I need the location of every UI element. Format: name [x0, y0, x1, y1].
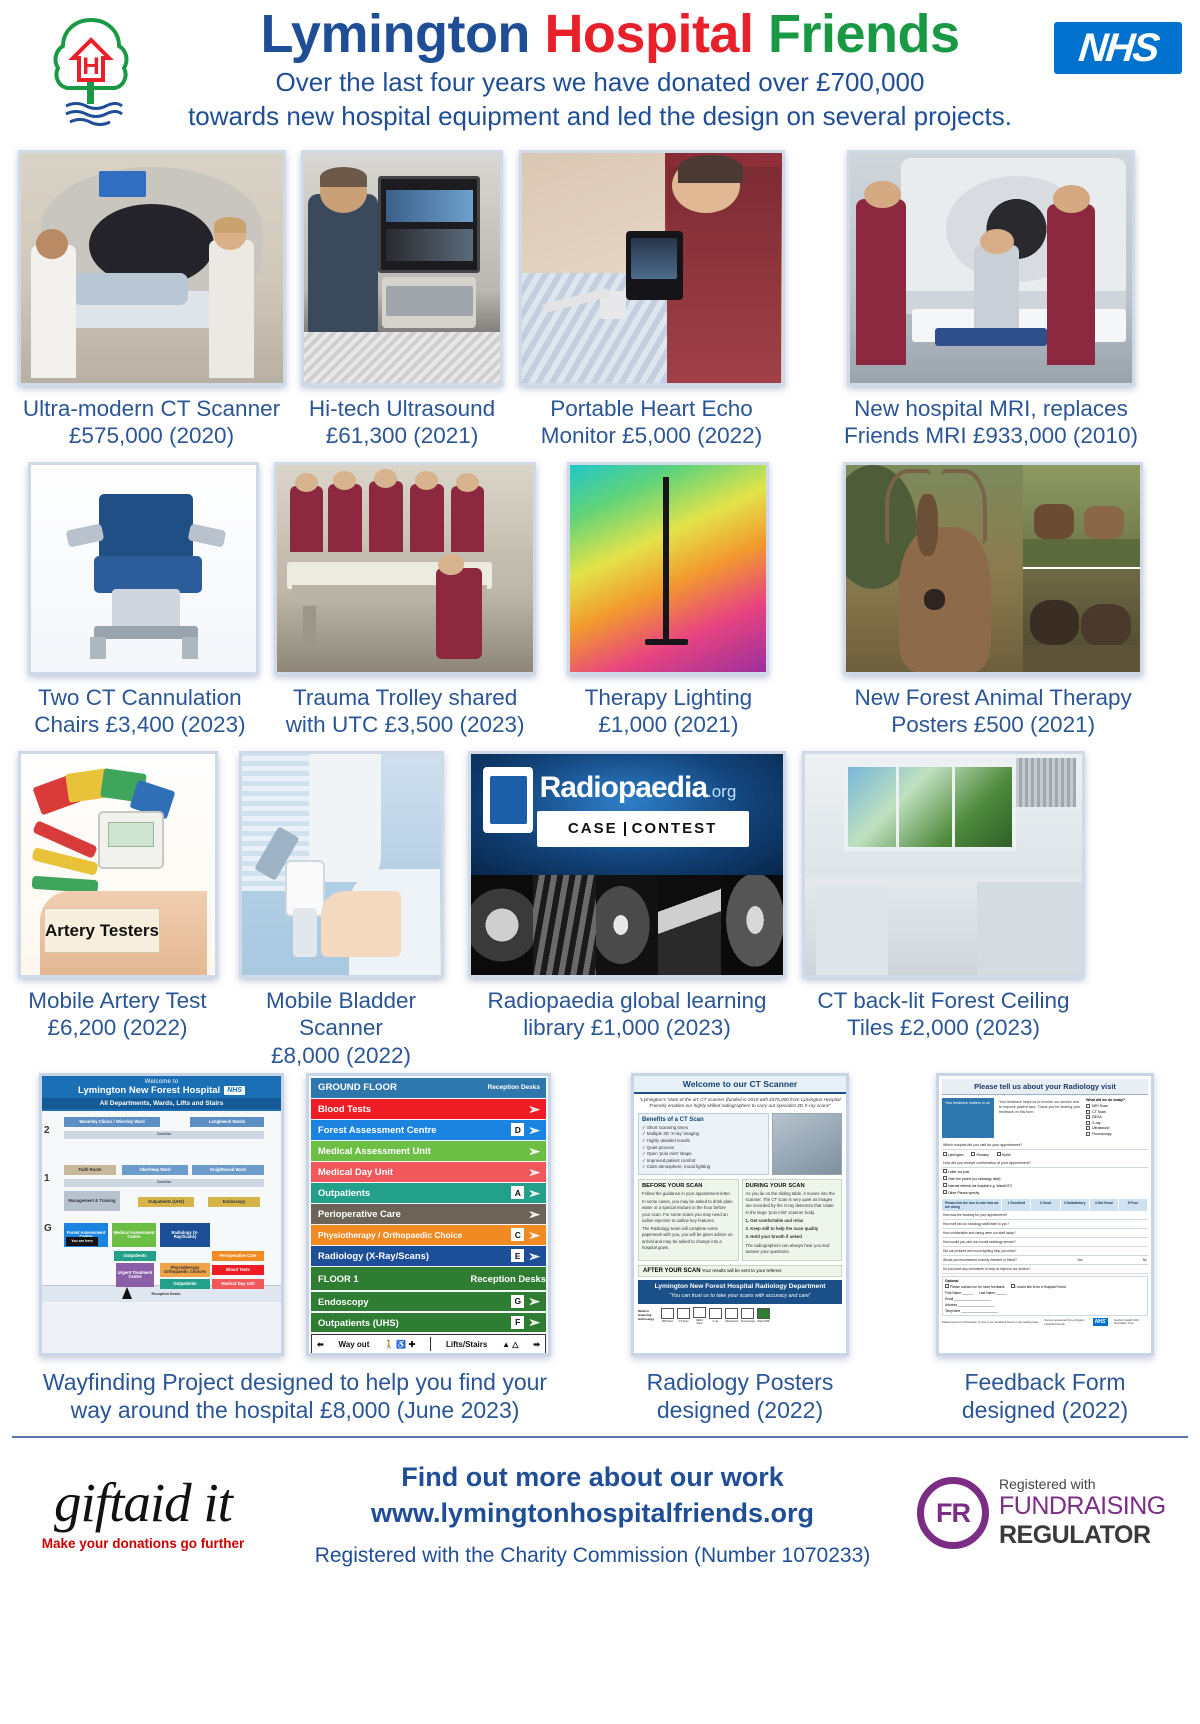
rp-benefit-item: ✓ Improved patient comfort [642, 1158, 765, 1165]
fb-optional-block: Optional Please contact me for more feed… [942, 1276, 1148, 1316]
sign-row-medical-assessment-unit: Medical Assessment Unit ➢ [311, 1141, 546, 1161]
fb-blue-box: Your feedback matters to us [942, 1098, 994, 1138]
fb-rating-col: 1 Excellent [1002, 1199, 1031, 1211]
sign-row-label: Perioperative Care [318, 1208, 528, 1219]
right-arrow-icon: ➢ [528, 1186, 540, 1200]
fb-footer-note: Please hand in to Reception or post in o… [942, 1320, 1038, 1324]
fb-comments-row[interactable]: Do you have any comments to help us impr… [942, 1265, 1148, 1274]
fr-line-1: Registered with [999, 1476, 1166, 1492]
caption-line-1: Mobile Artery Test [14, 987, 221, 1014]
map-block-urgent-treatment: Urgent Treatment Centre [116, 1263, 154, 1287]
equipment-row-2: Two CT Cannulation Chairs £3,400 (2023) [0, 462, 1200, 739]
map-block-management: Management & Training [64, 1191, 120, 1211]
fb-field-first-name[interactable]: First Name ______ [945, 1291, 973, 1295]
fb-rating-row[interactable]: How well did our radiology staff listen … [942, 1220, 1148, 1229]
rp-benefits-area: Benefits of a CT Scan ✓ Short scanning t… [634, 1113, 846, 1175]
grid-item-mobile-artery-test: Artery Testers Mobile Artery Test £6,200… [10, 751, 225, 1042]
lymington-hospital-friends-tree-logo: H [36, 16, 146, 128]
caption-radiopaedia: Radiopaedia global learning library £1,0… [457, 987, 797, 1042]
caption-ct-scanner: Ultra-modern CT Scanner £575,000 (2020) [10, 395, 293, 450]
rp-during-title: DURING YOUR SCAN [746, 1183, 839, 1189]
poster-subtitle: Over the last four years we have donated… [0, 65, 1200, 134]
sign-row-label: Radiology (X-Ray/Scans) [318, 1250, 511, 1261]
fb-what-options: What did we do today? MRI Scan CT Scan D… [1086, 1098, 1148, 1138]
photo-ponies [1023, 465, 1141, 568]
sign-row-perioperative-care: Perioperative Care ➢ [311, 1204, 546, 1224]
caption-line-1: Feedback Form [904, 1368, 1186, 1396]
radiopaedia-case-label: CASE [568, 820, 618, 837]
caption-cannulation-chairs: Two CT Cannulation Chairs £3,400 (2023) [10, 684, 270, 739]
grid-item-ultrasound: Hi-tech Ultrasound £61,300 (2021) [293, 150, 511, 450]
checkbox[interactable] [1086, 1121, 1090, 1125]
sign-badge: F [511, 1316, 524, 1329]
checkbox[interactable] [1086, 1104, 1090, 1108]
sign-floor1-label: FLOOR 1 [318, 1273, 470, 1284]
caption-mobile-artery-test: Mobile Artery Test £6,200 (2022) [10, 987, 225, 1042]
sign-row-label: Blood Tests [318, 1103, 528, 1114]
right-arrow-icon: ➢ [528, 1228, 540, 1242]
caption-line-1: Radiology Posters [584, 1368, 896, 1396]
right-arrow-icon: ➢ [528, 1207, 540, 1221]
fb-q-location: Which hospital did you visit for your ap… [942, 1141, 1148, 1150]
rp-benefits-box: Benefits of a CT Scan ✓ Short scanning t… [638, 1113, 769, 1175]
photo-ct-scanner [18, 150, 286, 386]
sign-row-label: Medical Day Unit [318, 1166, 528, 1177]
caption-line-2: designed (2022) [904, 1396, 1186, 1424]
fb-rating-col: 2 Good [1031, 1199, 1060, 1211]
right-arrow-icon: ➢ [528, 1249, 540, 1263]
title-friends: Friends [768, 4, 960, 64]
sign-floor1-reception: Reception Desks [470, 1273, 546, 1284]
caption-line-1: Therapy Lighting [544, 684, 792, 711]
sign-header-label: GROUND FLOOR [318, 1082, 488, 1093]
rp-icon-mri: MRI Scan [661, 1308, 674, 1323]
map-you-are-here: You are here [66, 1237, 98, 1246]
right-arrow-icon: ➢ [528, 1102, 540, 1116]
caption-line-1: New Forest Animal Therapy [800, 684, 1186, 711]
map-nhs-logo: NHS [224, 1086, 245, 1095]
rp-band-line-1: Lymington New Forest Hospital Radiology … [640, 1283, 840, 1292]
fb-confirm-opt[interactable]: Other Please specify [942, 1189, 1148, 1196]
fb-recommend-row[interactable]: Would you recommend a family member or f… [942, 1256, 1148, 1265]
photo-hospital-mri [847, 150, 1135, 386]
rp-icon-ct: CT Scan [677, 1308, 690, 1323]
grid-item-hospital-mri: New hospital MRI, replaces Friends MRI £… [792, 150, 1190, 450]
caption-line-1: CT back-lit Forest Ceiling [801, 987, 1086, 1014]
left-arrow-icon: ⬅ [317, 1340, 324, 1349]
sign-row-label: Outpatients (UHS) [318, 1317, 511, 1328]
map-block-longbeech: Longbeech Wards [190, 1117, 264, 1127]
fb-field-address[interactable]: Address ____________________ [945, 1303, 1145, 1307]
rp-benefit-item: ✓ Open ‘polo mint’ shape [642, 1151, 765, 1158]
rp-after-text: Your results will be sent to your referr… [702, 1268, 783, 1273]
grid-item-heart-echo: Portable Heart Echo Monitor £5,000 (2022… [511, 150, 792, 450]
sign-row-endoscopy: Endoscopy G ➢ [311, 1292, 546, 1312]
subtitle-line-1: Over the last four years we have donated… [70, 65, 1130, 99]
poster-title: Lymington Hospital Friends [0, 6, 1200, 63]
map-block-endoscopy: Endoscopy [208, 1197, 260, 1207]
photo-pigs [1023, 567, 1141, 672]
sign-badge: E [511, 1249, 524, 1262]
equipment-row-1: Ultra-modern CT Scanner £575,000 (2020) [0, 150, 1200, 450]
caption-line-1: Ultra-modern CT Scanner [14, 395, 289, 422]
fr-line-2: FUNDRAISING [999, 1492, 1166, 1521]
map-corridor-2: Corridor [64, 1131, 264, 1139]
grid-item-trauma-trolley: Trauma Trolley shared with UTC £3,500 (2… [270, 462, 541, 739]
map-block-medical-day-unit: Medical Day Unit [212, 1279, 264, 1289]
checkbox[interactable] [1086, 1110, 1090, 1114]
fb-no[interactable]: No [1143, 1258, 1147, 1262]
rp-before-during: BEFORE YOUR SCAN Follow the guidance in … [634, 1175, 846, 1265]
fb-field-email[interactable]: Email ____________________ [945, 1297, 1145, 1301]
fb-loc-opt[interactable]: Romsey [971, 1152, 988, 1157]
rp-benefit-item: ✓ Quiet process [642, 1145, 765, 1152]
caption-line-2: £6,200 (2022) [14, 1014, 221, 1041]
fb-rating-row[interactable]: How comfortable and caring were our staf… [942, 1229, 1148, 1238]
fb-nhs-logo: NHS [1093, 1318, 1108, 1326]
radiopaedia-wordmark: Radiopaedia [540, 771, 707, 805]
right-arrow-icon: ➢ [528, 1294, 540, 1308]
caption-line-2: with UTC £3,500 (2023) [274, 711, 537, 738]
map-block-oberheap: Oberheap Ward [122, 1165, 188, 1175]
caption-line-2: £575,000 (2020) [14, 422, 289, 449]
rp-benefits-title: Benefits of a CT Scan [642, 1117, 765, 1123]
right-arrow-icon: ➡ [533, 1340, 540, 1349]
map-block-radiology: Radiology (X-Ray/Scans) [160, 1223, 210, 1247]
map-block-faith-room: Faith Room [64, 1165, 116, 1175]
rp-icon-strip: Modern Scanning technology MRI Scan CT S… [634, 1304, 846, 1328]
sign-header-ground-floor: GROUND FLOOR Reception Desks [311, 1078, 546, 1098]
fb-loc-opt[interactable]: Hythe [997, 1152, 1011, 1157]
rp-after-title: AFTER YOUR SCAN [643, 1268, 701, 1274]
rp-before-p3: The Radiology team will complete some pa… [642, 1226, 735, 1251]
map-level-2: 2 [44, 1125, 50, 1136]
caption-line-2: Posters £500 (2021) [800, 711, 1186, 738]
grid-item-mobile-bladder-scanner: Mobile Bladder Scanner £8,000 (2022) [225, 751, 457, 1069]
sign-header-reception: Reception Desks [488, 1084, 540, 1091]
photo-animal-stack [1023, 465, 1141, 672]
caption-wayfinding: Wayfinding Project designed to help you … [10, 1368, 580, 1424]
fb-survey-credit: Survey sponsored by Lymington Hospital F… [1044, 1318, 1086, 1326]
photo-trauma-trolley [274, 462, 536, 675]
rp-icon-dexa: DEXA Scan [693, 1307, 706, 1325]
fb-option[interactable]: Fluoroscopy [1086, 1132, 1148, 1136]
photo-animal-posters [843, 462, 1143, 675]
caption-ultrasound: Hi-tech Ultrasound £61,300 (2021) [293, 395, 511, 450]
documents-row: Welcome to Lymington New Forest Hospital… [0, 1073, 1200, 1424]
radiopaedia-tld: .org [707, 782, 736, 802]
fb-q-confirm: How did you receive confirmation of your… [942, 1159, 1148, 1168]
photo-radiopaedia: Radiopaedia .org CASE CONTEST [468, 751, 786, 978]
caption-line-2: designed (2022) [584, 1396, 896, 1424]
sign-row-outpatients: Outpatients A ➢ [311, 1183, 546, 1203]
doc-group-wayfinding: Welcome to Lymington New Forest Hospital… [10, 1073, 580, 1424]
fb-intro: Your feedback helps us to monitor our se… [997, 1098, 1083, 1138]
checkbox[interactable] [1086, 1132, 1090, 1136]
sign-row-label: Endoscopy [318, 1296, 511, 1307]
sign-header-floor-1: FLOOR 1 Reception Desks [311, 1267, 546, 1290]
map-level-1: 1 [44, 1173, 50, 1184]
wayfinding-map-body: 2 1 G Waverley Clinics / Wiverley Ward L… [42, 1111, 281, 1285]
caption-hospital-mri: New hospital MRI, replaces Friends MRI £… [792, 395, 1190, 450]
sign-way-out-label: Way out [339, 1340, 370, 1349]
rp-benefit-item: ✓ Calm atmosphere, mood lighting [642, 1164, 765, 1171]
caption-therapy-lighting: Therapy Lighting £1,000 (2021) [540, 684, 796, 739]
doc-feedback-form: Please tell us about your Radiology visi… [936, 1073, 1154, 1356]
nhs-logo-label: NHS [1076, 26, 1159, 71]
rp-scanner-photo [772, 1113, 842, 1175]
title-lymington: Lymington [260, 4, 529, 64]
fr-line-3: REGULATOR [999, 1521, 1166, 1550]
caption-forest-ceiling-tiles: CT back-lit Forest Ceiling Tiles £2,000 … [797, 987, 1090, 1042]
fb-rating-col: 5 Poor [1119, 1199, 1148, 1211]
rp-icon-ward: Ward XRD [757, 1308, 770, 1323]
photo-cannulation-chair [28, 462, 259, 675]
rp-before-p1: Follow the guidance in your appointment … [642, 1191, 735, 1197]
footer-charity-number: Registered with the Charity Commission (… [268, 1544, 917, 1568]
sign-row-blood-tests: Blood Tests ➢ [311, 1099, 546, 1119]
map-block-perioperative: Perioperative Care [212, 1251, 264, 1261]
caption-feedback-form: Feedback Form designed (2022) [900, 1368, 1190, 1424]
fb-rating-row[interactable]: How was the booking for your appointment… [942, 1211, 1148, 1220]
sign-footer: ⬅ Way out 🚶 ♿ ✚ Lifts/Stairs ▲ △ ➡ [311, 1334, 546, 1354]
caption-line-1: Hi-tech Ultrasound [297, 395, 507, 422]
map-level-G: G [44, 1223, 52, 1234]
fb-field-last-name[interactable]: Last Name ______ [979, 1291, 1007, 1295]
nhs-logo: NHS [1054, 22, 1182, 74]
fb-confirm-opt[interactable]: Internal referral via hospital e.g. Ward… [942, 1182, 1148, 1189]
subtitle-line-2: towards new hospital equipment and led t… [70, 99, 1130, 133]
map-block-physio: Physiotherapy Orthopaedic Choices [160, 1263, 210, 1277]
sign-lifts-stairs-label: Lifts/Stairs [446, 1340, 487, 1349]
map-block-outpatients-2: Outpatients [160, 1279, 210, 1289]
rp-icon-fluoroscopy: Fluoroscopy [741, 1308, 754, 1323]
rp-during-step-1: 1. Get comfortable and relax [746, 1218, 839, 1224]
sign-row-physiotherapy: Physiotherapy / Orthopaedic Choice C ➢ [311, 1225, 546, 1245]
rp-before-title: BEFORE YOUR SCAN [642, 1183, 735, 1189]
sign-badge: A [511, 1186, 524, 1199]
svg-text:H: H [82, 53, 99, 80]
map-block-blood-tests: Blood Tests [212, 1265, 264, 1275]
fb-loc-opt[interactable]: Lymington [943, 1152, 963, 1157]
right-arrow-icon: ➢ [528, 1165, 540, 1179]
map-reception-desks: Reception Desks [138, 1291, 194, 1299]
sign-row-label: Physiotherapy / Orthopaedic Choice [318, 1230, 511, 1240]
rp-after-block: AFTER YOUR SCAN Your results will be sen… [638, 1265, 842, 1277]
sign-row-medical-day-unit: Medical Day Unit ➢ [311, 1162, 546, 1182]
map-block-medical-assessment: Medical Assessment Centre [112, 1223, 156, 1247]
sign-badge: G [511, 1295, 524, 1308]
artery-testers-label: Artery Testers [45, 921, 159, 941]
giftaid-wordmark: giftaid it [18, 1475, 268, 1530]
grid-item-ct-scanner: Ultra-modern CT Scanner £575,000 (2020) [10, 150, 293, 450]
caption-line-1: Two CT Cannulation [14, 684, 266, 711]
caption-line-2: library £1,000 (2023) [461, 1014, 793, 1041]
map-entrance-arrow-icon [122, 1287, 132, 1299]
grid-item-forest-ceiling-tiles: CT back-lit Forest Ceiling Tiles £2,000 … [797, 751, 1090, 1042]
fb-location-options: Lymington Romsey Hythe [942, 1150, 1148, 1159]
map-subtitle: All Departments, Wards, Lifts and Stairs [42, 1098, 281, 1109]
rp-intro: “Lymington’s ‘state of the art’ CT scann… [634, 1094, 846, 1113]
caption-line-2: way around the hospital £8,000 (June 202… [14, 1396, 576, 1424]
caption-line-1: Mobile Bladder Scanner [229, 987, 453, 1042]
fb-friend-opt[interactable]: I would like to be a Hospital Friend [1011, 1284, 1066, 1289]
fb-rating-col: 3 Satisfactory [1061, 1199, 1090, 1211]
caption-line-2: £1,000 (2021) [544, 711, 792, 738]
fb-confirm-opt[interactable]: Letter via post [942, 1168, 1148, 1175]
footer-find-out: Find out more about our work [268, 1459, 917, 1495]
fb-questions: Which hospital did you visit for your ap… [942, 1141, 1148, 1196]
fr-text-block: Registered with FUNDRAISING REGULATOR [999, 1476, 1166, 1550]
caption-line-1: Portable Heart Echo [515, 395, 788, 422]
fb-rating-row[interactable]: How would you rate our overall radiology… [942, 1238, 1148, 1247]
caption-line-1: Wayfinding Project designed to help you … [14, 1368, 576, 1396]
fb-yes[interactable]: Yes [1077, 1258, 1082, 1262]
fb-option[interactable]: X-ray [1086, 1121, 1148, 1125]
caption-line-2: Friends MRI £933,000 (2010) [796, 422, 1186, 449]
fb-credits: Please hand in to Reception or post in o… [942, 1318, 1148, 1326]
caption-line-1: Trauma Trolley shared [274, 684, 537, 711]
caption-line-1: Radiopaedia global learning [461, 987, 793, 1014]
artery-testers-label-box: Artery Testers [44, 908, 160, 952]
rp-benefit-item: ✓ Short scanning times [642, 1125, 765, 1132]
rp-benefit-item: ✓ Highly detailed results [642, 1138, 765, 1145]
fundraising-regulator-logo: FR Registered with FUNDRAISING REGULATOR [917, 1476, 1182, 1550]
poster-footer: giftaid it Make your donations go furthe… [0, 1438, 1200, 1588]
checkbox[interactable] [1086, 1126, 1090, 1130]
fb-option[interactable]: MRI Scan [1086, 1104, 1148, 1108]
rp-during-p2: The radiographers can always hear you an… [746, 1243, 839, 1255]
wayout-pictograms: 🚶 ♿ ✚ [384, 1340, 415, 1349]
doc-radiology-poster: Welcome to our CT Scanner “Lymington’s ‘… [631, 1073, 849, 1356]
rp-icon-ultrasound: Ultrasound [725, 1308, 738, 1323]
title-hospital: Hospital [544, 4, 753, 64]
caption-line-2: £61,300 (2021) [297, 422, 507, 449]
photo-bladder-scanner [239, 751, 444, 978]
photo-therapy-lighting [567, 462, 769, 675]
doc-wayfinding-sign: GROUND FLOOR Reception Desks Blood Tests… [306, 1073, 551, 1356]
sign-row-outpatients-uhs: Outpatients (UHS) F ➢ [311, 1313, 546, 1333]
map-block-outpatients-uhs: Outpatients (UHS) [138, 1197, 194, 1207]
poster-header: H Lymington Hospital Friends NHS Over th… [0, 0, 1200, 150]
sign-row-label: Medical Assessment Unit [318, 1145, 528, 1156]
poster-root: H Lymington Hospital Friends NHS Over th… [0, 0, 1200, 1724]
map-block-knightwood: Knightwood Ward [192, 1165, 264, 1175]
doc-group-feedback-form: Please tell us about your Radiology visi… [900, 1073, 1190, 1424]
footer-website-link[interactable]: www.lymingtonhospitalfriends.org [268, 1495, 917, 1531]
map-block-outpatients-a: Outpatients [114, 1251, 156, 1261]
grid-item-animal-therapy-posters: New Forest Animal Therapy Posters £500 (… [796, 462, 1190, 739]
fb-trust: Southern Health NHS Foundation Trust [1114, 1319, 1148, 1325]
fb-title: Please tell us about your Radiology visi… [942, 1079, 1148, 1095]
fb-rating-col: 4 Not Good [1090, 1199, 1119, 1211]
rp-band-line-2: “You can trust us to take your scans wit… [669, 1293, 811, 1299]
photo-ceiling-tiles [802, 751, 1085, 978]
right-arrow-icon: ➢ [528, 1144, 540, 1158]
caption-line-2: Chairs £3,400 (2023) [14, 711, 266, 738]
rp-tech-label: Modern Scanning technology [638, 1310, 658, 1322]
footer-contact: Find out more about our work www.lymingt… [268, 1459, 917, 1568]
map-block-waverley: Waverley Clinics / Wiverley Ward [64, 1117, 160, 1127]
caption-animal-posters: New Forest Animal Therapy Posters £500 (… [796, 684, 1190, 739]
caption-line-2: Tiles £2,000 (2023) [801, 1014, 1086, 1041]
sign-row-radiology: Radiology (X-Ray/Scans) E ➢ [311, 1246, 546, 1266]
right-arrow-icon: ➢ [528, 1315, 540, 1329]
doc-wayfinding-map: Welcome to Lymington New Forest Hospital… [39, 1073, 284, 1356]
fb-rating-rows: How was the booking for your appointment… [942, 1211, 1148, 1274]
photo-artery-tester: Artery Testers [18, 751, 218, 978]
giftaid-logo: giftaid it Make your donations go furthe… [18, 1475, 268, 1551]
caption-radiology-posters: Radiology Posters designed (2022) [580, 1368, 900, 1424]
fb-field-telephone[interactable]: Telephone ____________________ [945, 1309, 1145, 1313]
fb-optional-label: Optional [945, 1279, 1145, 1283]
caption-heart-echo: Portable Heart Echo Monitor £5,000 (2022… [511, 395, 792, 450]
fb-option[interactable]: CT Scan [1086, 1110, 1148, 1114]
fb-rating-col: Please tick the box to rate how we are d… [942, 1199, 1002, 1211]
right-arrow-icon: ➢ [528, 1123, 540, 1137]
photo-heart-echo [519, 150, 785, 386]
rp-during-p1: As you lie on the sliding table, it move… [746, 1191, 839, 1216]
rp-band: Lymington New Forest Hospital Radiology … [638, 1280, 842, 1304]
caption-line-1: New hospital MRI, replaces [796, 395, 1186, 422]
fb-rating-header: Please tick the box to rate how we are d… [942, 1199, 1148, 1211]
sign-row-forest-assessment-centre: Forest Assessment Centre D ➢ [311, 1120, 546, 1140]
fb-option[interactable]: Ultrasound [1086, 1126, 1148, 1130]
fb-what-label: What did we do today? [1086, 1098, 1148, 1102]
caption-line-2: Monitor £5,000 (2022) [515, 422, 788, 449]
rp-before-col: BEFORE YOUR SCAN Follow the guidance in … [638, 1179, 739, 1261]
grid-item-radiopaedia: Radiopaedia .org CASE CONTEST Ra [457, 751, 797, 1042]
fr-initials: FR [936, 1498, 970, 1529]
checkbox[interactable] [1086, 1115, 1090, 1119]
fr-circle-icon: FR [917, 1477, 989, 1549]
radiopaedia-contest-label: CONTEST [632, 820, 718, 837]
doc-group-radiology-poster: Welcome to our CT Scanner “Lymington’s ‘… [580, 1073, 900, 1424]
giftaid-strapline: Make your donations go further [18, 1536, 268, 1551]
fb-confirm-opt[interactable]: Over the phone (no radiology dept) [942, 1175, 1148, 1182]
fb-rating-row[interactable]: Did our pictures and mood lighting help … [942, 1247, 1148, 1256]
rp-during-col: DURING YOUR SCAN As you lie on the slidi… [742, 1179, 843, 1261]
equipment-row-3: Artery Testers Mobile Artery Test £6,200… [0, 751, 1200, 1069]
fb-option[interactable]: DEXA [1086, 1115, 1148, 1119]
sign-badge: C [511, 1228, 524, 1241]
rp-during-step-2: 2. Keep still to help the scan quality [746, 1226, 839, 1232]
map-corridor-1: Corridor [64, 1179, 264, 1187]
map-title: Lymington New Forest Hospital [78, 1085, 220, 1096]
wayfinding-map-header: Welcome to Lymington New Forest Hospital… [42, 1076, 281, 1111]
sign-row-label: Forest Assessment Centre [318, 1124, 511, 1135]
rp-during-step-3: 3. Hold your breath if asked [746, 1234, 839, 1240]
caption-trauma-trolley: Trauma Trolley shared with UTC £3,500 (2… [270, 684, 541, 739]
photo-deer [846, 465, 1022, 672]
lift-stairs-pictograms: ▲ △ [502, 1340, 518, 1349]
sign-row-label: Outpatients [318, 1187, 511, 1198]
rp-icon-xray: X-ray [709, 1308, 722, 1323]
rp-before-p2: In some cases, you may be asked to drink… [642, 1199, 735, 1224]
grid-item-therapy-lighting: Therapy Lighting £1,000 (2021) [540, 462, 796, 739]
rp-title: Welcome to our CT Scanner [634, 1076, 846, 1094]
grid-item-cannulation-chairs: Two CT Cannulation Chairs £3,400 (2023) [10, 462, 270, 739]
sign-badge: D [511, 1123, 524, 1136]
photo-ultrasound [301, 150, 503, 386]
rp-benefit-item: ✓ Multiple 3D ‘X-ray’ imaging [642, 1131, 765, 1138]
caption-line-2: £8,000 (2022) [229, 1042, 453, 1069]
fb-top-area: Your feedback matters to us Your feedbac… [942, 1098, 1148, 1138]
caption-mobile-bladder-scanner: Mobile Bladder Scanner £8,000 (2022) [225, 987, 457, 1069]
fb-contact-opt[interactable]: Please contact me for more feedback [945, 1284, 1005, 1289]
